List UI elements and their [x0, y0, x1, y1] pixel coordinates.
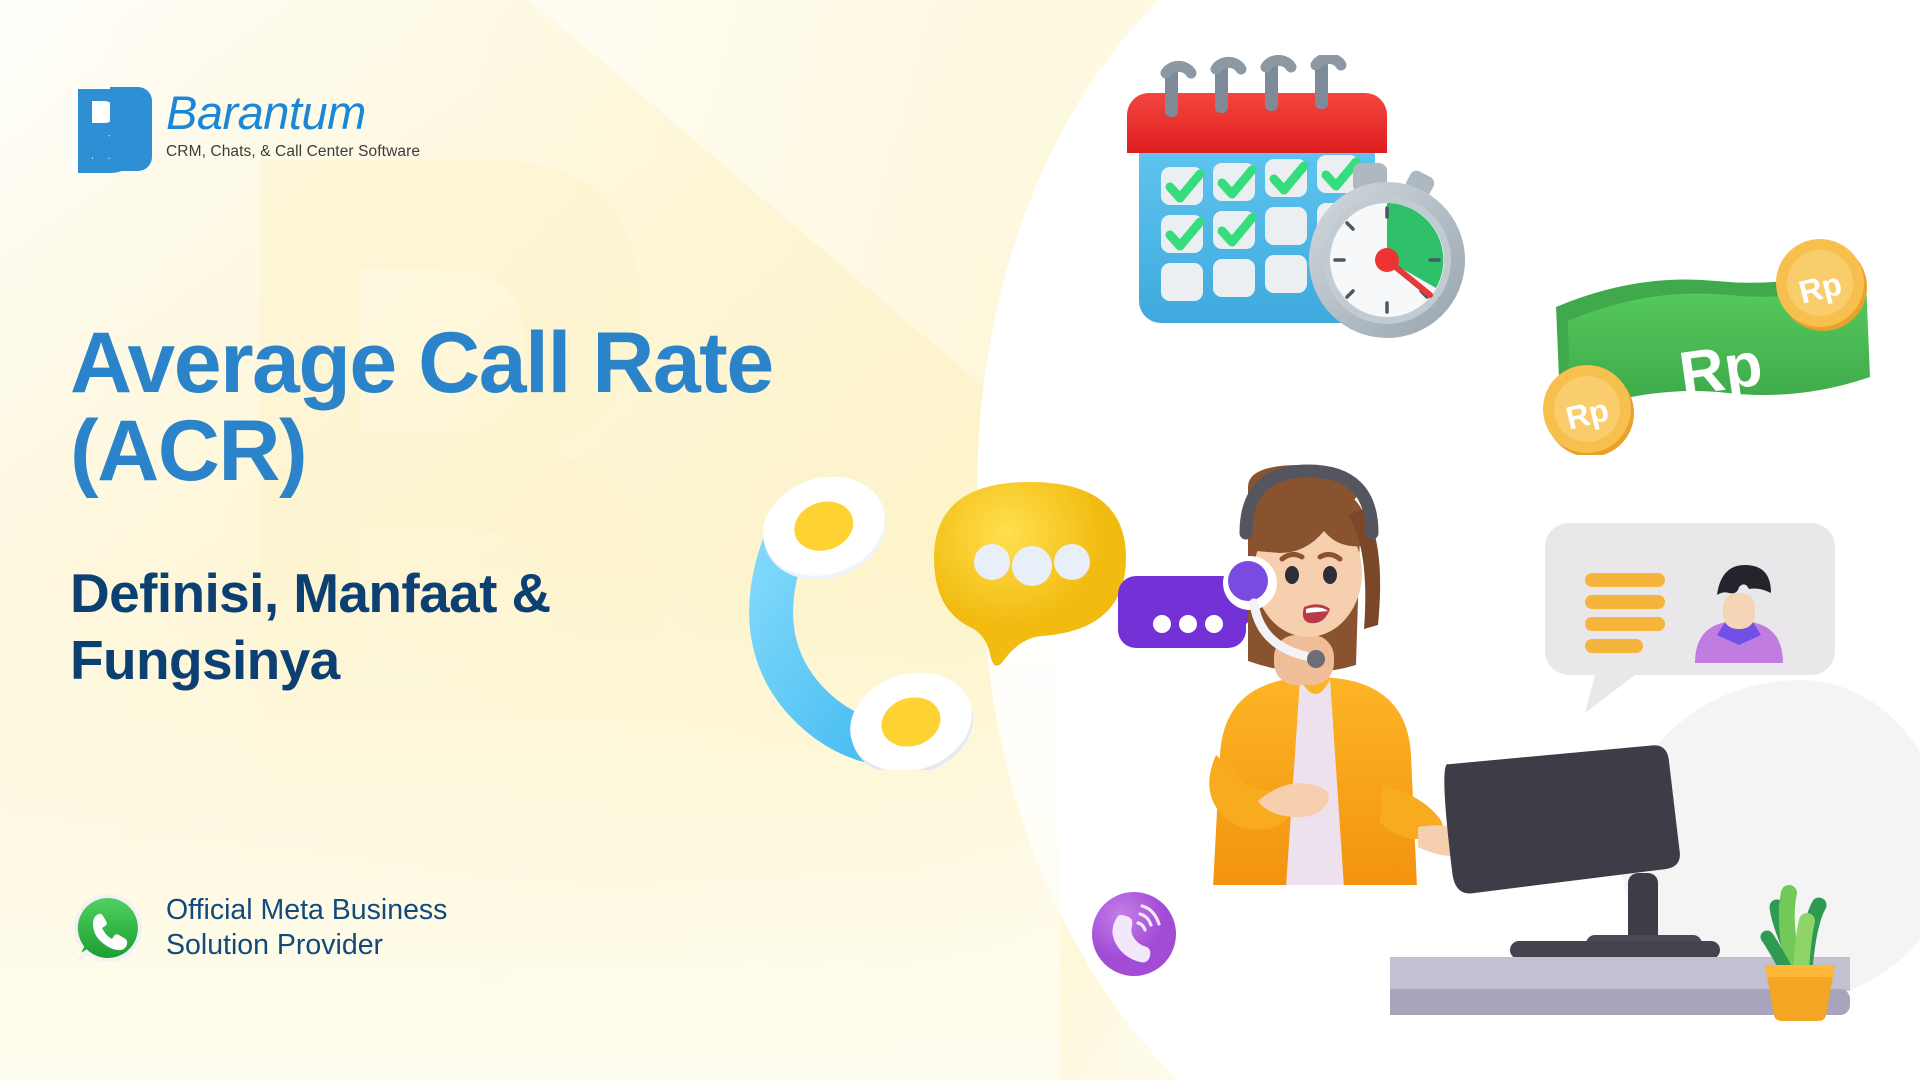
content-column: Barantum CRM, Chats, & Call Center Softw…	[70, 0, 950, 1080]
brand-logo[interactable]: Barantum CRM, Chats, & Call Center Softw…	[70, 85, 420, 173]
logo-tagline: CRM, Chats, & Call Center Software	[166, 143, 420, 161]
page-subtitle: Definisi, Manfaat & Fungsinya	[70, 560, 770, 694]
logo-wordmark: Barantum	[166, 89, 420, 136]
badge-text: Official Meta Business Solution Provider	[166, 893, 447, 964]
subheadline-line-2: Fungsinya	[70, 627, 770, 694]
page-title: Average Call Rate (ACR)	[70, 320, 900, 495]
headline-line-2: (ACR)	[70, 408, 900, 496]
barantum-b-logo-icon	[70, 85, 152, 173]
badge-line-2: Solution Provider	[166, 928, 447, 963]
badge-line-1: Official Meta Business	[166, 894, 447, 926]
subheadline-line-1: Definisi, Manfaat &	[70, 562, 551, 624]
meta-business-badge: Official Meta Business Solution Provider	[70, 890, 447, 966]
whatsapp-icon	[70, 890, 146, 966]
headline-line-1: Average Call Rate	[70, 315, 773, 411]
promo-banner: Rp Rp Rp	[0, 0, 1920, 1080]
